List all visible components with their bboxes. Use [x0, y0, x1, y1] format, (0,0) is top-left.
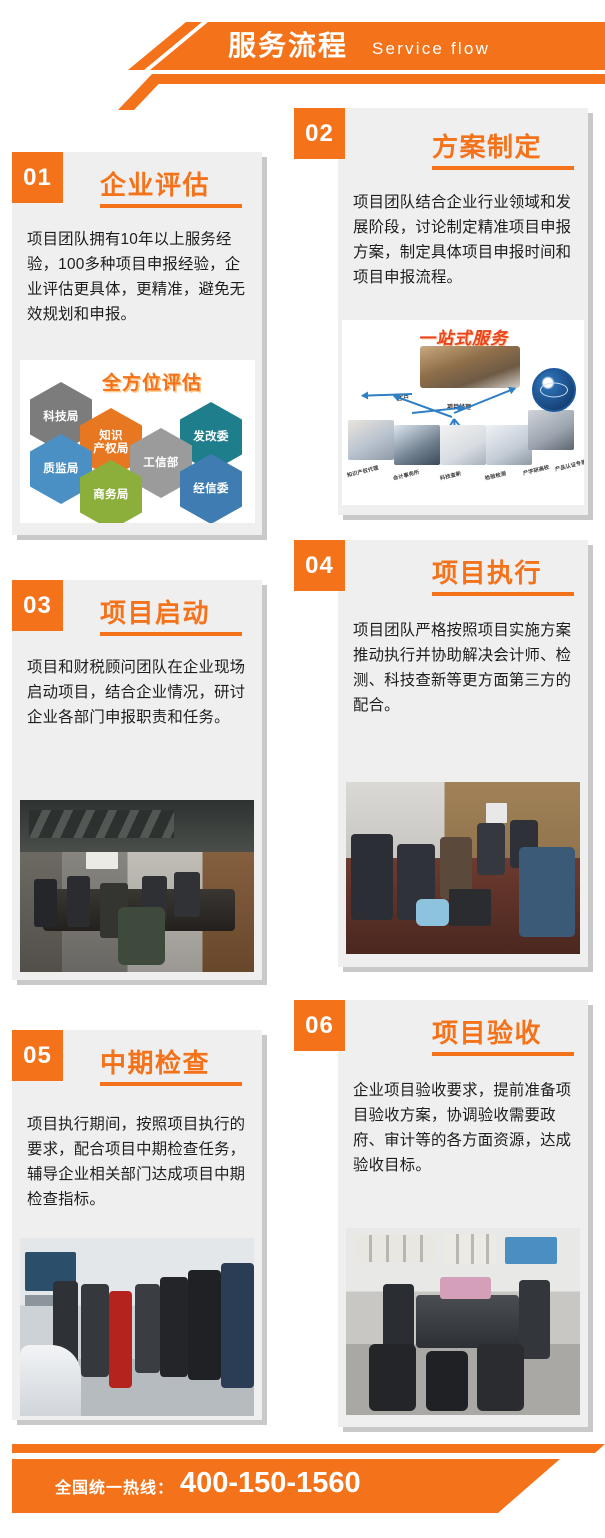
onestop-nodelabel-0: 知识产权代理	[346, 464, 379, 479]
card-03-photo	[20, 800, 254, 972]
onestop-node-testing	[486, 425, 532, 465]
card-01-rule	[100, 204, 242, 208]
card-02-title: 方案制定	[432, 127, 542, 164]
card-05-number: 05	[12, 1030, 63, 1081]
hotline-label: 全国统一热线：	[55, 1474, 174, 1498]
onestop-node-search	[440, 425, 486, 465]
card-06-text: 企业项目验收要求，提前准备项目验收方案，协调验收需要政府、审计等的各方面资源，达…	[353, 1078, 577, 1178]
card-06-title: 项目验收	[432, 1013, 542, 1050]
onestop-hub-photo	[420, 346, 520, 388]
onestop-arrow-4	[393, 395, 452, 418]
header-bar-thin	[150, 74, 605, 84]
page-subtitle: Service flow	[372, 36, 490, 62]
card-06[interactable]: 06 项目验收 企业项目验收要求，提前准备项目验收方案，协调验收需要政府、审计等…	[294, 1000, 594, 1432]
card-01-text: 项目团队拥有10年以上服务经验，100多种项目申报经验，企业评估更具体，更精准，…	[27, 227, 251, 327]
card-05[interactable]: 05 中期检查 项目执行期间，按照项目执行的要求，配合项目中期检查任务，辅导企业…	[12, 1030, 274, 1425]
card-06-photo	[346, 1228, 580, 1415]
card-01-title: 企业评估	[100, 165, 210, 202]
onestop-nodelabel-3: 检验检测	[484, 470, 507, 482]
card-02-number: 02	[294, 108, 345, 159]
onestop-nodelabel-1: 会计事务所	[392, 469, 420, 482]
onestop-node-ip	[348, 420, 394, 460]
card-01-number: 01	[12, 152, 63, 203]
card-02-text: 项目团队结合企业行业领域和发展阶段，讨论制定精准项目申报方案，制定具体项目申报时…	[353, 190, 577, 290]
onestop-node-certification	[532, 368, 576, 412]
card-04-photo	[346, 782, 580, 954]
card-04-title: 项目执行	[432, 553, 542, 590]
card-06-rule	[432, 1052, 574, 1056]
onestop-nodelabel-2: 科技查新	[439, 470, 462, 482]
onestop-arrow-3	[454, 387, 516, 414]
card-05-rule	[100, 1082, 242, 1086]
card-03-title: 项目启动	[100, 593, 210, 630]
hotline-number[interactable]: 400-150-1560	[180, 1467, 361, 1500]
page-header: 服务流程 Service flow	[0, 0, 605, 100]
card-04-text: 项目团队严格按照项目实施方案推动执行并协助解决会计师、检测、科技查新等更方面第三…	[353, 618, 577, 718]
hex-diagram: 全方位评估 科技局 知识 产权局 发改委 质监局 工信部 商务局 经信委	[20, 360, 255, 523]
card-03-rule	[100, 632, 242, 636]
card-04[interactable]: 04 项目执行 项目团队严格按照项目实施方案推动执行并协助解决会计师、检测、科技…	[294, 540, 594, 972]
page-title: 服务流程	[228, 26, 348, 66]
card-05-title: 中期检查	[100, 1043, 210, 1080]
onestop-nodelabel-5: 产品认证专家	[554, 458, 584, 473]
footer-slash-thin	[498, 1444, 605, 1453]
card-01[interactable]: 01 企业评估 项目团队拥有10年以上服务经验，100多种项目申报经验，企业评估…	[12, 152, 274, 540]
card-05-text: 项目执行期间，按照项目执行的要求，配合项目中期检查任务，辅导企业相关部门达成项目…	[27, 1112, 251, 1212]
onestop-diagram: 一站式服务 客户 项目经理 知识产权代理 会计事务所 科技查新 检验检测 产学研…	[342, 320, 584, 505]
card-04-number: 04	[294, 540, 345, 591]
card-04-rule	[432, 592, 574, 596]
onestop-node-accounting	[394, 425, 440, 465]
card-02[interactable]: 02 方案制定 项目团队结合企业行业领域和发展阶段，讨论制定精准项目申报方案，制…	[294, 108, 594, 520]
onestop-node-university	[528, 410, 574, 450]
card-05-photo	[20, 1238, 254, 1416]
onestop-nodelabel-4: 产学研高校	[522, 464, 550, 477]
card-03-text: 项目和财税顾问团队在企业现场启动项目，结合企业情况，研讨企业各部门申报职责和任务…	[27, 655, 251, 730]
card-03[interactable]: 03 项目启动 项目和财税顾问团队在企业现场启动项目，结合企业情况，研讨企业各部…	[12, 580, 274, 985]
card-06-number: 06	[294, 1000, 345, 1051]
hex-diagram-title: 全方位评估	[102, 368, 202, 395]
card-02-rule	[432, 166, 574, 170]
card-03-number: 03	[12, 580, 63, 631]
